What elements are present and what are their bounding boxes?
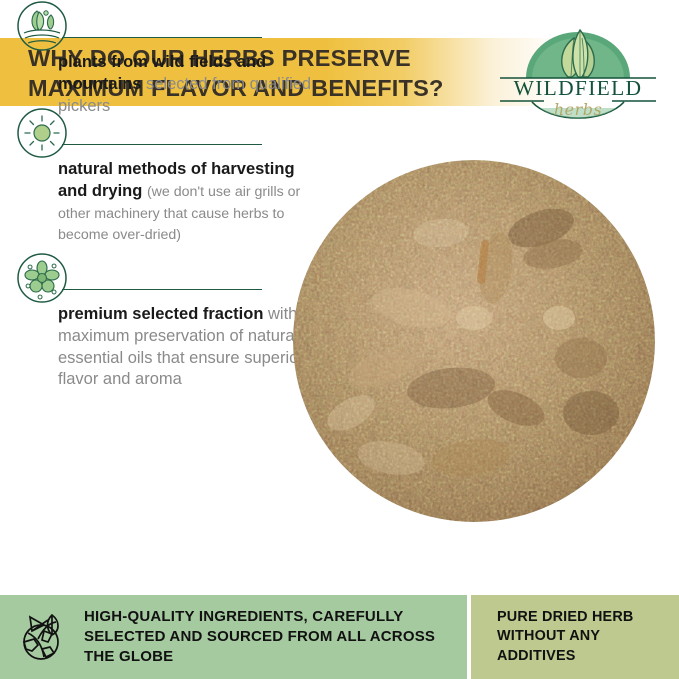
feature-head [0, 0, 320, 52]
feature-item: plants from wild fields and mountains se… [0, 0, 320, 117]
feature-divider [62, 144, 262, 145]
feature-head [0, 252, 320, 304]
feature-divider [62, 37, 262, 38]
logo-script: herbs [492, 100, 664, 119]
logo-wordmark: WILDFIELD [492, 76, 664, 101]
feature-text: premium selected fraction with maximum p… [0, 304, 320, 391]
sun-icon [16, 107, 68, 159]
banner-quality-text: HIGH-QUALITY INGREDIENTS, CAREFULLY SELE… [84, 607, 467, 667]
feature-bold: premium selected fraction [58, 305, 263, 323]
herb-flower-icon [16, 252, 68, 304]
product-image [291, 158, 657, 524]
feature-item: natural methods of harvesting and drying… [0, 107, 320, 246]
feature-head [0, 107, 320, 159]
brand-logo: WILDFIELD herbs [492, 20, 664, 125]
infographic-canvas: WHY DO OUR HERBS PRESERVE MAXIMUM FLAVOR… [0, 0, 679, 679]
banner-pure: PURE DRIED HERB WITHOUT ANY ADDITIVES [471, 595, 679, 679]
globe-leaf-icon [14, 609, 70, 665]
banner-quality: HIGH-QUALITY INGREDIENTS, CAREFULLY SELE… [0, 595, 467, 679]
banner-pure-text: PURE DRIED HERB WITHOUT ANY ADDITIVES [497, 608, 679, 665]
feature-item: premium selected fraction with maximum p… [0, 252, 320, 391]
feature-divider [62, 289, 262, 290]
field-plants-icon [16, 0, 68, 52]
feature-text: natural methods of harvesting and drying… [0, 159, 320, 246]
